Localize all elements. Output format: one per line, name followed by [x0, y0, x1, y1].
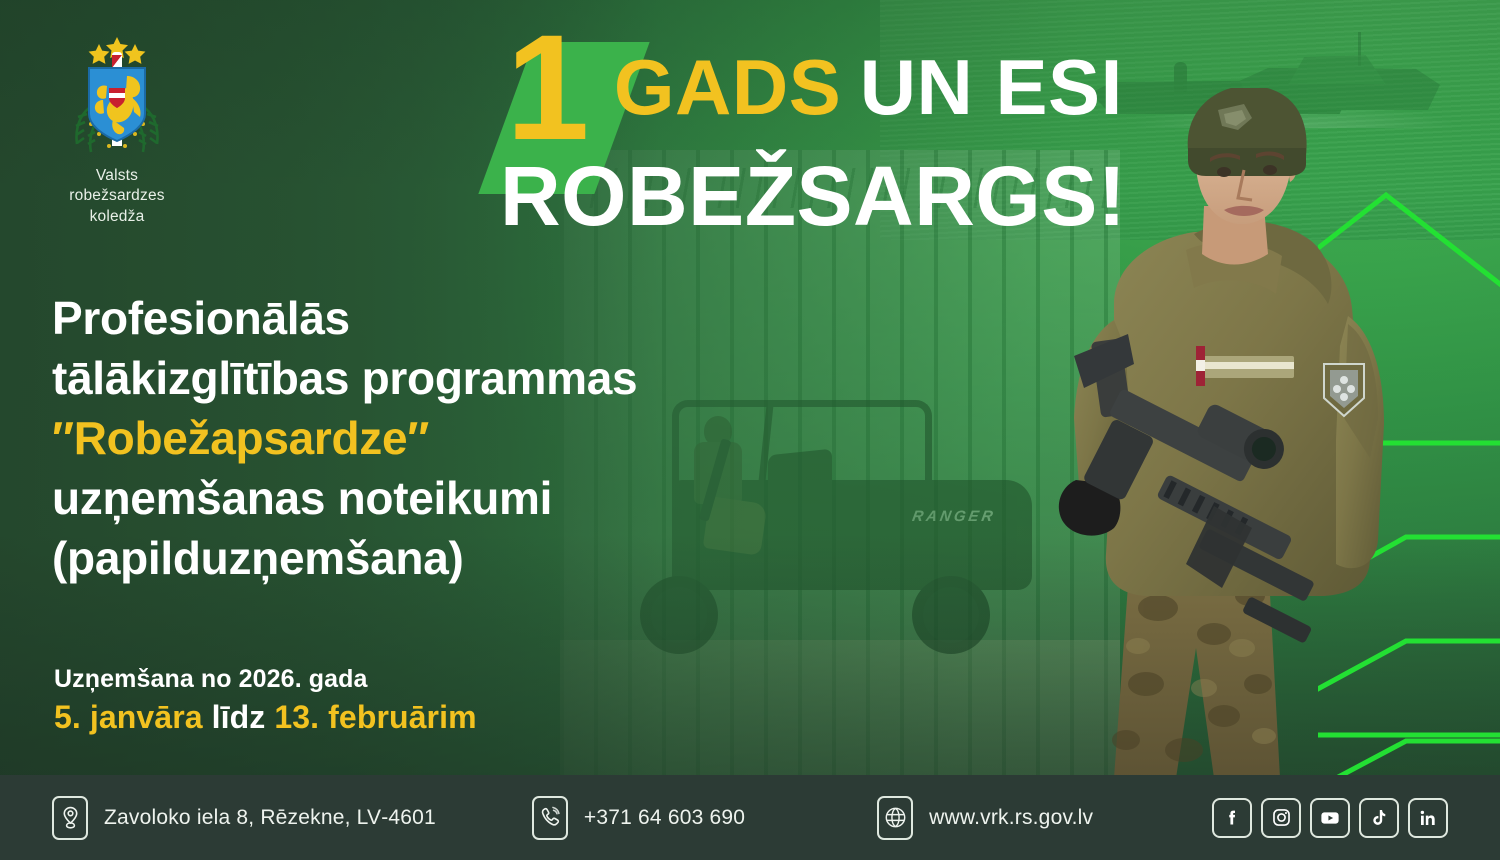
- headline-block: 1 GADS UN ESI ROBEŽSARGS!: [500, 28, 1140, 244]
- program-description: Profesionālās tālākizglītības programmas…: [52, 288, 792, 588]
- date-separator: līdz: [212, 699, 266, 735]
- headline-line-1: 1 GADS UN ESI: [500, 28, 1140, 146]
- social-links: [1212, 798, 1448, 838]
- body-line-3-program-name: ″Robežapsardze″: [52, 408, 792, 468]
- organization-logo: Valsts robežsardzes koledža: [52, 28, 182, 227]
- website-text: www.vrk.rs.gov.lv: [929, 806, 1093, 830]
- tiktok-icon[interactable]: [1359, 798, 1399, 838]
- date-to: 13. februārim: [274, 699, 476, 735]
- org-line-1: Valsts: [52, 166, 182, 186]
- org-line-2: robežsardzes: [52, 186, 182, 206]
- admission-dates: Uzņemšana no 2026. gada 5. janvāra līdz …: [54, 662, 694, 738]
- linkedin-icon[interactable]: [1408, 798, 1448, 838]
- headline-number: 1: [506, 28, 587, 146]
- headline-gads: GADS: [614, 28, 841, 146]
- body-line-4: uzņemšanas noteikumi: [52, 468, 792, 528]
- footer-address: Zavoloko iela 8, Rēzekne, LV‑4601: [52, 796, 436, 840]
- dates-intro: Uzņemšana no 2026. gada: [54, 662, 694, 696]
- body-line-2: tālākizglītības programmas: [52, 348, 792, 408]
- border-guard-crest-icon: [69, 28, 165, 156]
- date-from: 5. janvāra: [54, 699, 203, 735]
- footer-phone[interactable]: +371 64 603 690: [532, 796, 745, 840]
- dates-range: 5. janvāra līdz 13. februārim: [54, 696, 694, 738]
- body-line-5: (papilduzņemšana): [52, 528, 792, 588]
- headline-line-2: ROBEŽSARGS!: [500, 148, 1140, 244]
- body-line-1: Profesionālās: [52, 288, 792, 348]
- organization-name: Valsts robežsardzes koledža: [52, 166, 182, 227]
- location-pin-icon: [52, 796, 88, 840]
- globe-icon: [877, 796, 913, 840]
- headline-un-esi: UN ESI: [860, 28, 1123, 146]
- phone-text: +371 64 603 690: [584, 806, 745, 830]
- footer-website[interactable]: www.vrk.rs.gov.lv: [877, 796, 1093, 840]
- facebook-icon[interactable]: [1212, 798, 1252, 838]
- phone-icon: [532, 796, 568, 840]
- address-text: Zavoloko iela 8, Rēzekne, LV‑4601: [104, 806, 436, 830]
- org-line-3: koledža: [52, 207, 182, 227]
- instagram-icon[interactable]: [1261, 798, 1301, 838]
- contact-footer: Zavoloko iela 8, Rēzekne, LV‑4601 +371 6…: [0, 775, 1500, 860]
- youtube-icon[interactable]: [1310, 798, 1350, 838]
- recruitment-poster: RANGER: [0, 0, 1500, 860]
